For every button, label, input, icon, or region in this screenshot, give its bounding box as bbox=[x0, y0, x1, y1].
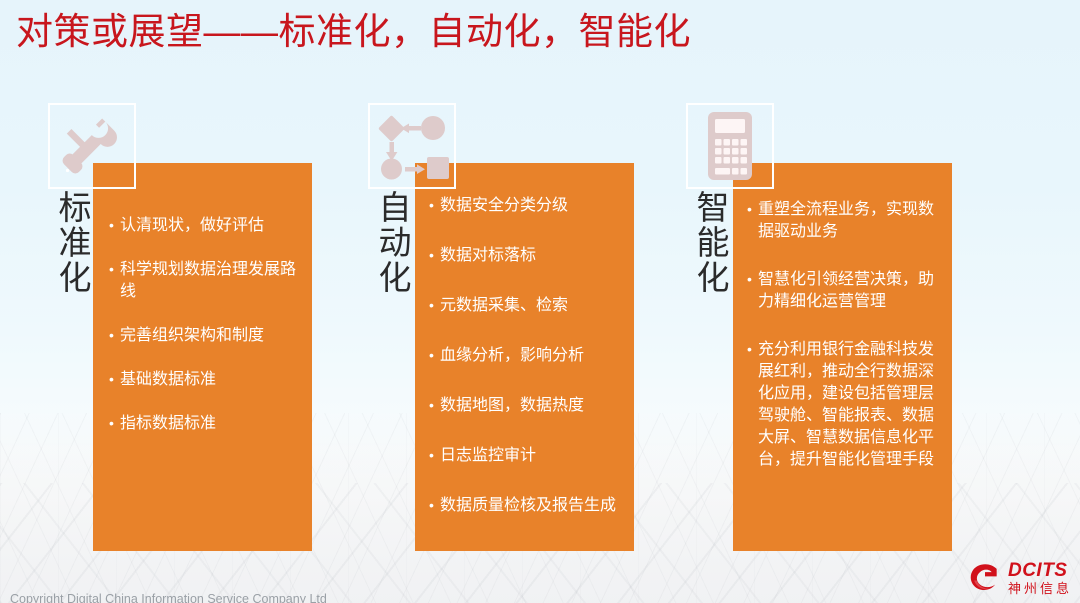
logo-wordmark: DCITS 神州信息 bbox=[1008, 561, 1072, 595]
column-label-intelligence: 智能化 bbox=[690, 190, 730, 295]
page-title: 对策或展望——标准化，自动化，智能化 bbox=[16, 8, 691, 56]
logo-en-text: DCITS bbox=[1008, 561, 1072, 580]
logo-cn-text: 神州信息 bbox=[1008, 582, 1072, 595]
bullet-list-standardization: 认清现状，做好评估 科学规划数据治理发展路线 完善组织架构和制度 基础数据标准 … bbox=[109, 215, 298, 435]
bullet-list-intelligence: 重塑全流程业务，实现数据驱动业务 智慧化引领经营决策，助力精细化运营管理 充分利… bbox=[747, 199, 940, 471]
icon-frame-standardization bbox=[48, 103, 136, 189]
list-item: 数据地图，数据热度 bbox=[429, 395, 622, 417]
bullet-list-automation: 数据安全分类分级 数据对标落标 元数据采集、检索 血缘分析，影响分析 数据地图，… bbox=[429, 195, 622, 517]
flowchart-icon bbox=[370, 105, 454, 187]
list-item: 充分利用银行金融科技发展红利，推动全行数据深化应用，建设包括管理层驾驶舱、智能报… bbox=[747, 339, 940, 471]
icon-frame-automation bbox=[368, 103, 456, 189]
copyright-text: Copyright Digital China Information Serv… bbox=[10, 592, 327, 603]
list-item: 日志监控审计 bbox=[429, 445, 622, 467]
calculator-icon bbox=[688, 105, 772, 187]
list-item: 重塑全流程业务，实现数据驱动业务 bbox=[747, 199, 940, 243]
slide-root: 对策或展望——标准化，自动化，智能化 认清现状，做好评估 科学规划数据治理发展路… bbox=[0, 0, 1080, 603]
footer: Copyright Digital China Information Serv… bbox=[0, 579, 1080, 603]
content-panel-automation: 数据安全分类分级 数据对标落标 元数据采集、检索 血缘分析，影响分析 数据地图，… bbox=[415, 163, 634, 551]
list-item: 完善组织架构和制度 bbox=[109, 325, 298, 347]
list-item: 基础数据标准 bbox=[109, 369, 298, 391]
list-item: 数据质量检核及报告生成 bbox=[429, 495, 622, 517]
dcits-logo: DCITS 神州信息 bbox=[968, 561, 1072, 595]
list-item: 元数据采集、检索 bbox=[429, 295, 622, 317]
icon-frame-intelligence bbox=[686, 103, 774, 189]
content-panel-standardization: 认清现状，做好评估 科学规划数据治理发展路线 完善组织架构和制度 基础数据标准 … bbox=[93, 163, 312, 551]
list-item: 智慧化引领经营决策，助力精细化运营管理 bbox=[747, 269, 940, 313]
content-panel-intelligence: 重塑全流程业务，实现数据驱动业务 智慧化引领经营决策，助力精细化运营管理 充分利… bbox=[733, 163, 952, 551]
list-item: 认清现状，做好评估 bbox=[109, 215, 298, 237]
list-item: 科学规划数据治理发展路线 bbox=[109, 259, 298, 303]
list-item: 数据对标落标 bbox=[429, 245, 622, 267]
tools-icon bbox=[50, 105, 134, 187]
list-item: 血缘分析，影响分析 bbox=[429, 345, 622, 367]
column-label-standardization: 标准化 bbox=[52, 190, 92, 295]
list-item: 指标数据标准 bbox=[109, 413, 298, 435]
column-label-automation: 自动化 bbox=[372, 190, 412, 295]
dcits-swirl-icon bbox=[968, 563, 1002, 593]
list-item: 数据安全分类分级 bbox=[429, 195, 622, 217]
